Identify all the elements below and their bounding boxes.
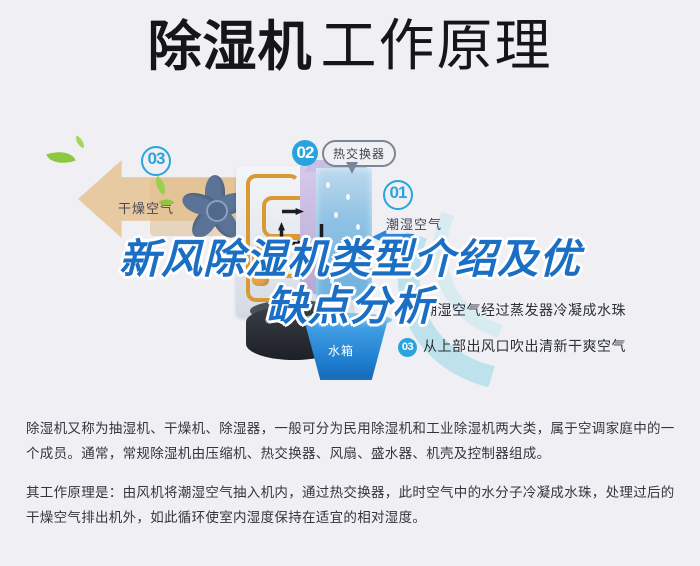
overlay-headline-line-1: 新风除湿机类型介绍及优 [0,236,700,283]
title-secondary: 工作原理 [321,14,553,77]
leaf-icon [73,136,87,149]
badge-02: 02 [292,140,318,166]
infographic-page: 除湿机工作原理 干燥空气 [0,0,700,566]
page-title: 除湿机工作原理 [0,18,700,74]
heat-exchanger-callout: 热交换器 [322,140,396,167]
badge-03: 03 [141,146,171,176]
leaf-icon [46,146,75,168]
water-tank-label: 水箱 [328,342,354,359]
caption-text-03: 从上部出风口吹出清新干爽空气 [423,338,626,354]
callout-tail [346,162,358,174]
body-paragraph-2: 其工作原理是：由风机将潮湿空气抽入机内，通过热交换器，此时空气中的水分子冷凝成水… [26,480,678,530]
caption-badge-03: 03 [398,338,417,357]
badge-01: 01 [383,180,413,210]
humid-air-label: 潮湿空气 [386,214,442,233]
overlay-headline-line-2: 缺点分析 [0,283,700,330]
caption-step-03: 03从上部出风口吹出清新干爽空气 [398,336,626,357]
fan-hub [206,200,228,222]
title-primary: 除湿机 [148,17,313,77]
body-paragraph-1: 除湿机又称为抽湿机、干燥机、除湿器，一般可分为民用除湿机和工业除湿机两大类，属于… [26,416,678,466]
overlay-headline: 新风除湿机类型介绍及优 缺点分析 [0,236,700,330]
